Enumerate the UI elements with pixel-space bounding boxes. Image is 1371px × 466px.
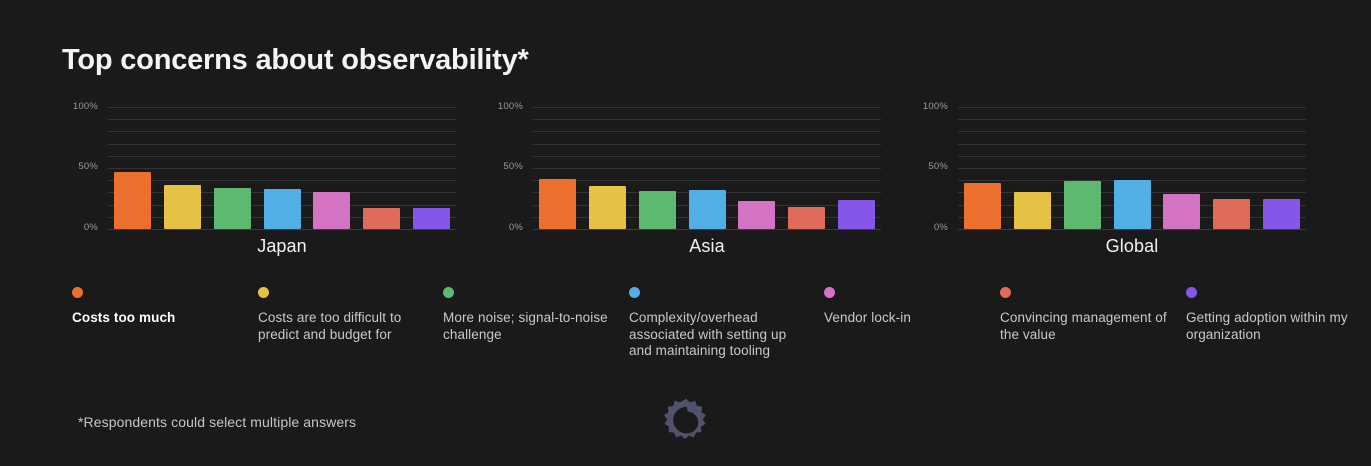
y-axis-global: 100% 50% 0% [898, 96, 952, 236]
chart-title-japan: Japan [108, 236, 456, 257]
legend-item-label: More noise; signal-to-noise challenge [443, 310, 615, 343]
bar-slot [1157, 107, 1207, 229]
bar[interactable] [1064, 181, 1101, 229]
y-tick-50: 50% [928, 161, 948, 172]
bar[interactable] [114, 172, 151, 229]
chart-title-asia: Asia [533, 236, 881, 257]
bar[interactable] [539, 179, 576, 229]
plot-area-global: 100% 50% 0% [898, 96, 1324, 236]
bar[interactable] [1263, 199, 1300, 230]
legend-item[interactable]: Costs are too difficult to predict and b… [258, 287, 430, 343]
legend-item-label: Costs are too difficult to predict and b… [258, 310, 430, 343]
plot-area-japan: 100% 50% 0% [48, 96, 474, 236]
legend-color-dot-icon [1186, 287, 1197, 298]
legend-color-dot-icon [824, 287, 835, 298]
y-tick-0: 0% [509, 222, 523, 233]
legend-color-dot-icon [258, 287, 269, 298]
y-axis-asia: 100% 50% 0% [473, 96, 527, 236]
chart-panel-asia: 100% 50% 0% Asia [473, 96, 899, 271]
bar[interactable] [1213, 199, 1250, 230]
bar-slot [732, 107, 782, 229]
bar-slot [1057, 107, 1107, 229]
bar[interactable] [689, 190, 726, 229]
bar-slot [958, 107, 1008, 229]
bar[interactable] [1114, 180, 1151, 229]
chart-title-global: Global [958, 236, 1306, 257]
bar[interactable] [413, 208, 450, 229]
chart-panel-japan: 100% 50% 0% Japan [48, 96, 474, 271]
bar-slot [108, 107, 158, 229]
legend-color-dot-icon [629, 287, 640, 298]
bar[interactable] [838, 200, 875, 229]
bar-slot [533, 107, 583, 229]
bars-japan [108, 107, 456, 229]
y-tick-0: 0% [84, 222, 98, 233]
bar[interactable] [214, 188, 251, 229]
legend-color-dot-icon [1000, 287, 1011, 298]
bar-slot [682, 107, 732, 229]
bars-global [958, 107, 1306, 229]
bar-slot [583, 107, 633, 229]
y-tick-50: 50% [78, 161, 98, 172]
legend-item-label: Vendor lock-in [824, 310, 996, 327]
bar-slot [158, 107, 208, 229]
bar-slot [632, 107, 682, 229]
bar[interactable] [639, 191, 676, 229]
legend-color-dot-icon [443, 287, 454, 298]
gridline-0 [108, 229, 456, 230]
bar[interactable] [589, 186, 626, 229]
legend: Costs too muchCosts are too difficult to… [62, 287, 1322, 367]
bar[interactable] [313, 192, 350, 229]
grafana-logo [661, 396, 711, 446]
bar-slot [257, 107, 307, 229]
bar-slot [831, 107, 881, 229]
bar-slot [782, 107, 832, 229]
bar-slot [1008, 107, 1058, 229]
legend-item-label: Convincing management of the value [1000, 310, 1172, 343]
page-title: Top concerns about observability* [62, 44, 529, 77]
bar[interactable] [738, 201, 775, 229]
bar[interactable] [264, 189, 301, 229]
y-axis-japan: 100% 50% 0% [48, 96, 102, 236]
plot-area-asia: 100% 50% 0% [473, 96, 899, 236]
y-tick-100: 100% [498, 101, 523, 112]
charts-row: 100% 50% 0% Japan 100% 50% 0% Asia [0, 96, 1371, 271]
bars-asia [533, 107, 881, 229]
legend-color-dot-icon [72, 287, 83, 298]
gridline-0 [958, 229, 1306, 230]
bar[interactable] [788, 207, 825, 229]
bar-slot [1107, 107, 1157, 229]
infographic-root: Top concerns about observability* 100% 5… [0, 0, 1371, 466]
bar-slot [406, 107, 456, 229]
y-tick-100: 100% [73, 101, 98, 112]
legend-item-label: Costs too much [72, 310, 244, 327]
legend-item-label: Getting adoption within my organization [1186, 310, 1358, 343]
bar-slot [207, 107, 257, 229]
bar-slot [357, 107, 407, 229]
y-tick-0: 0% [934, 222, 948, 233]
legend-item[interactable]: More noise; signal-to-noise challenge [443, 287, 615, 343]
bar[interactable] [164, 185, 201, 229]
legend-item[interactable]: Complexity/overhead associated with sett… [629, 287, 801, 360]
legend-item[interactable]: Vendor lock-in [824, 287, 996, 327]
legend-item[interactable]: Convincing management of the value [1000, 287, 1172, 343]
bar[interactable] [1163, 194, 1200, 229]
bar[interactable] [964, 183, 1001, 229]
chart-panel-global: 100% 50% 0% Global [898, 96, 1324, 271]
legend-item-label: Complexity/overhead associated with sett… [629, 310, 801, 360]
bar-slot [1207, 107, 1257, 229]
bar[interactable] [1014, 192, 1051, 229]
bar-slot [307, 107, 357, 229]
footnote: *Respondents could select multiple answe… [78, 414, 356, 430]
y-tick-50: 50% [503, 161, 523, 172]
y-tick-100: 100% [923, 101, 948, 112]
gridline-0 [533, 229, 881, 230]
bar-slot [1256, 107, 1306, 229]
bar[interactable] [363, 208, 400, 229]
legend-item[interactable]: Getting adoption within my organization [1186, 287, 1358, 343]
legend-item[interactable]: Costs too much [72, 287, 244, 327]
